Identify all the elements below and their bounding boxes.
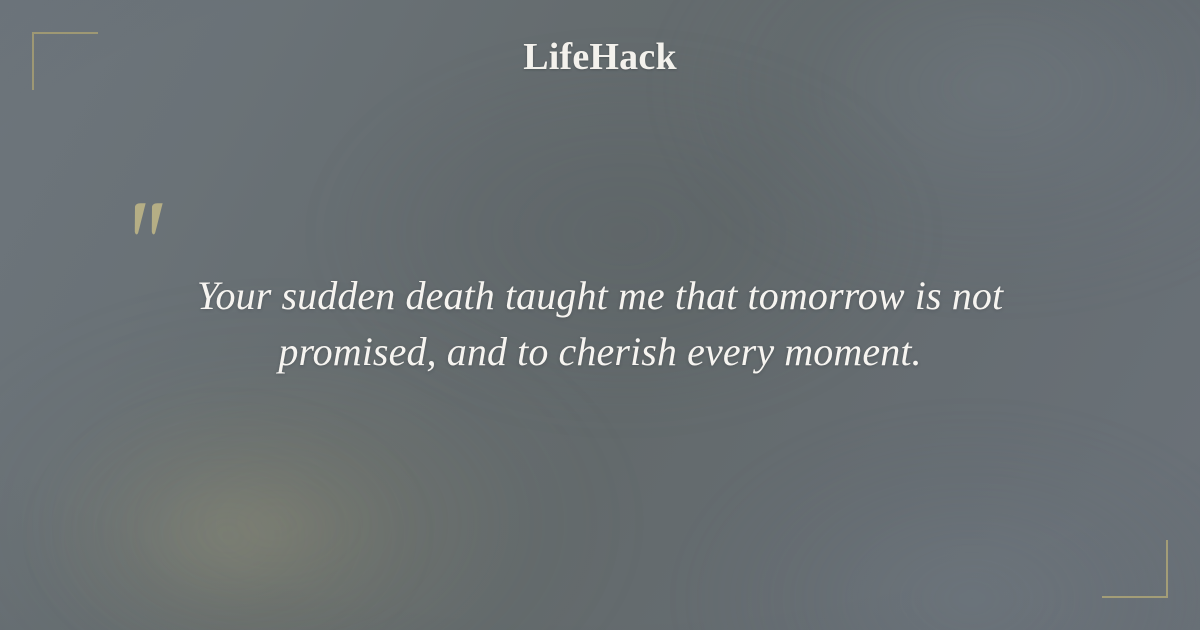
quote-line-1: Your sudden death taught me that tomorro… [120,268,1080,324]
quote-text: Your sudden death taught me that tomorro… [0,268,1200,380]
quote-mark-icon [132,200,176,240]
brand-logo: LifeHack [0,38,1200,76]
quote-line-2: promised, and to cherish every moment. [120,324,1080,380]
quote-card: LifeHack Your sudden death taught me tha… [0,0,1200,630]
